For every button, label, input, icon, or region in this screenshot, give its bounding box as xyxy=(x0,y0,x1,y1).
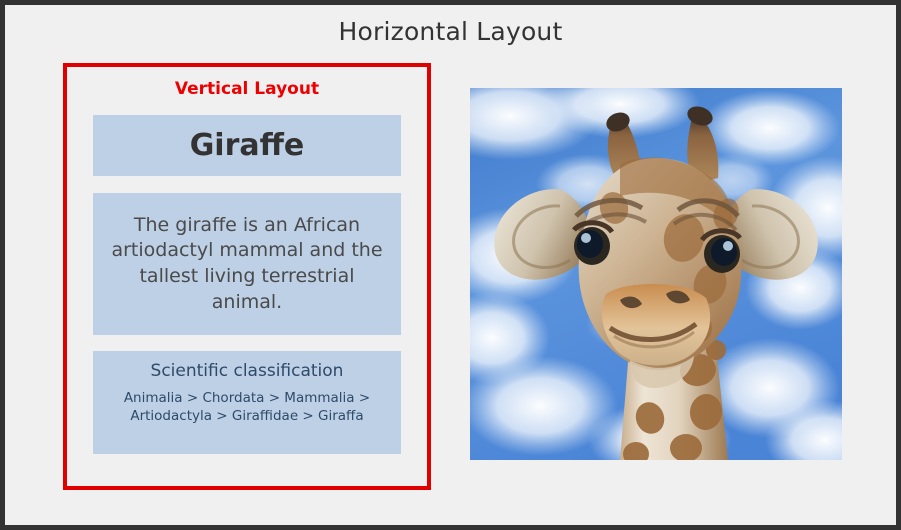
page-title: Horizontal Layout xyxy=(5,17,896,46)
giraffe-description-panel: The giraffe is an African artiodactyl ma… xyxy=(93,193,401,335)
giraffe-illustration xyxy=(470,88,842,460)
giraffe-description-label: The giraffe is an African artiodactyl ma… xyxy=(107,213,387,316)
giraffe-heading-label: Giraffe xyxy=(190,128,305,163)
vertical-layout-group: Vertical Layout Giraffe The giraffe is a… xyxy=(63,63,431,490)
classification-heading-label: Scientific classification xyxy=(93,361,401,381)
horizontal-layout-container: Vertical Layout Giraffe The giraffe is a… xyxy=(5,60,896,525)
vertical-layout-title: Vertical Layout xyxy=(67,79,427,99)
classification-path-label: Animalia > Chordata > Mammalia > Artioda… xyxy=(93,389,401,425)
giraffe-heading-panel: Giraffe xyxy=(93,115,401,176)
giraffe-photo xyxy=(470,88,842,460)
app-window: Horizontal Layout Vertical Layout Giraff… xyxy=(0,0,901,530)
scientific-classification-panel: Scientific classification Animalia > Cho… xyxy=(93,351,401,454)
